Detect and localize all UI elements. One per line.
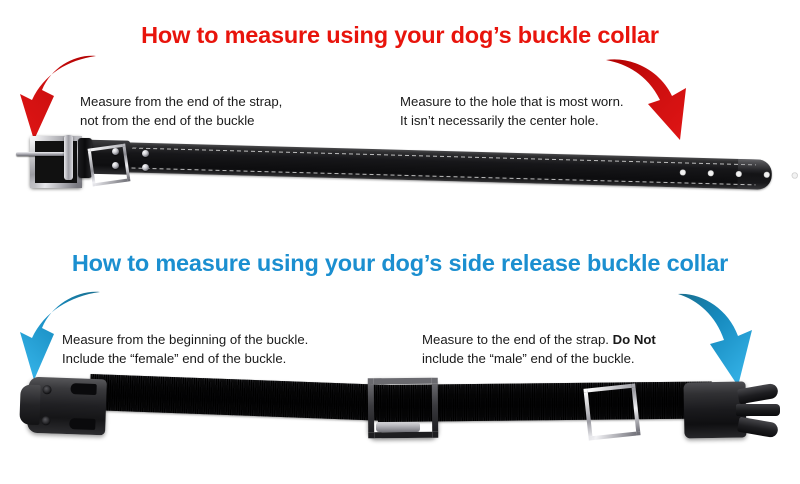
collar-rivet <box>142 164 149 171</box>
slider-keeper-bar <box>376 422 420 432</box>
strap-hole <box>736 171 742 177</box>
callout-line-1: Measure from the end of the strap, <box>80 92 282 111</box>
callout-measure-to-worn-hole: Measure to the hole that is most worn. I… <box>400 92 624 130</box>
nylon-side-release-collar-image <box>12 366 788 464</box>
callout-emphasis-do-not: Do Not <box>613 332 656 347</box>
callout-line-2: not from the end of the buckle <box>80 111 282 130</box>
leather-strap <box>112 142 773 190</box>
callout-measure-from-buckle-beginning: Measure from the beginning of the buckle… <box>62 330 308 368</box>
strap-hole <box>708 170 714 176</box>
infographic-canvas: How to measure using your dog’s buckle c… <box>0 0 800 484</box>
callout-line-2: It isn’t necessarily the center hole. <box>400 111 624 130</box>
callout-measure-from-strap-end: Measure from the end of the strap, not f… <box>80 92 282 130</box>
strap-hole <box>792 172 798 178</box>
red-arrow-down-right-icon <box>602 52 698 144</box>
buckle-collar-heading: How to measure using your dog’s buckle c… <box>0 22 800 49</box>
buckle-tongue <box>16 152 68 156</box>
callout-line-1: Measure to the hole that is most worn. <box>400 92 624 111</box>
buckle-cross-bar <box>64 135 73 180</box>
strap-hole <box>764 172 770 178</box>
nylon-webbing-left <box>89 374 390 421</box>
collar-rivet <box>112 162 119 169</box>
callout-measure-to-strap-end: Measure to the end of the strap. Do Not … <box>422 330 656 368</box>
callout-line-1-normal: Measure to the end of the strap. <box>422 332 613 347</box>
collar-rivet <box>112 148 119 155</box>
callout-line-1: Measure to the end of the strap. Do Not <box>422 330 656 349</box>
female-side-release-buckle <box>27 377 107 436</box>
female-buckle-dimple <box>41 416 50 425</box>
female-buckle-nose <box>19 384 40 425</box>
female-buckle-dimple <box>42 385 51 394</box>
strap-hole <box>680 169 686 175</box>
side-release-collar-heading: How to measure using your dog’s side rel… <box>0 250 800 277</box>
metal-buckle-frame <box>30 136 82 188</box>
collar-rivet <box>142 150 149 157</box>
leather-buckle-collar-image <box>12 132 788 204</box>
male-buckle-center-tab <box>736 404 780 416</box>
callout-line-1: Measure from the beginning of the buckle… <box>62 330 308 349</box>
